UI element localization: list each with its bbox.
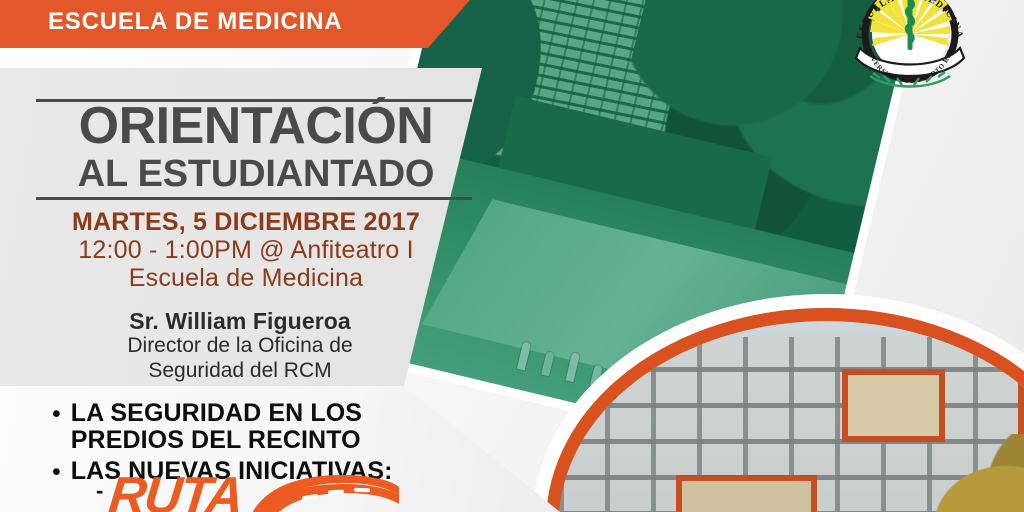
title-rule-bottom: [36, 197, 472, 200]
bullet-icon: •: [52, 402, 61, 427]
ruta-road-icon: [250, 473, 400, 512]
event-date: MARTES, 5 DICIEMBRE 2017: [20, 208, 472, 236]
list-item: • LA SEGURIDAD EN LOS PREDIOS DEL RECINT…: [52, 400, 482, 453]
header-title: ESCUELA DE MEDICINA: [48, 8, 342, 36]
page-title-line1: ORIENTACIÓN: [36, 100, 476, 153]
ruta-logo: - RUTA: [96, 470, 400, 512]
topic-text: LA SEGURIDAD EN LOS PREDIOS DEL RECINTO: [71, 400, 482, 453]
sub-item-dash: -: [96, 480, 103, 502]
speaker-name: Sr. William Figueroa: [20, 308, 460, 334]
poster-canvas: ESCUELA DE MEDICINA ORIENTACIÓN AL ESTUD…: [0, 0, 1024, 512]
page-title-line2: AL ESTUDIANTADO: [36, 155, 476, 195]
upr-school-of-medicine-seal: ESCUELA DE MEDICINA UNIVERSIDAD DE PUERT…: [846, 0, 974, 100]
event-venue: Escuela de Medicina: [20, 264, 472, 292]
ruta-wordmark: RUTA: [107, 470, 245, 512]
building-balcony-panel: [842, 369, 945, 442]
circle-campus-photo: [546, 308, 1024, 512]
bullet-icon: •: [52, 460, 61, 485]
event-time-place: 12:00 - 1:00PM @ Anfiteatro I: [20, 236, 472, 264]
building-balcony-panel: [676, 475, 816, 512]
speaker-role-line2: Seguridad del RCM: [20, 359, 460, 383]
event-details: MARTES, 5 DICIEMBRE 2017 12:00 - 1:00PM …: [20, 208, 472, 292]
circle-photo-image: [559, 321, 1024, 512]
speaker-block: Sr. William Figueroa Director de la Ofic…: [20, 308, 460, 383]
circle-photo-dry-foliage: [933, 434, 1024, 512]
speaker-role-line1: Director de la Oficina de: [20, 334, 460, 358]
